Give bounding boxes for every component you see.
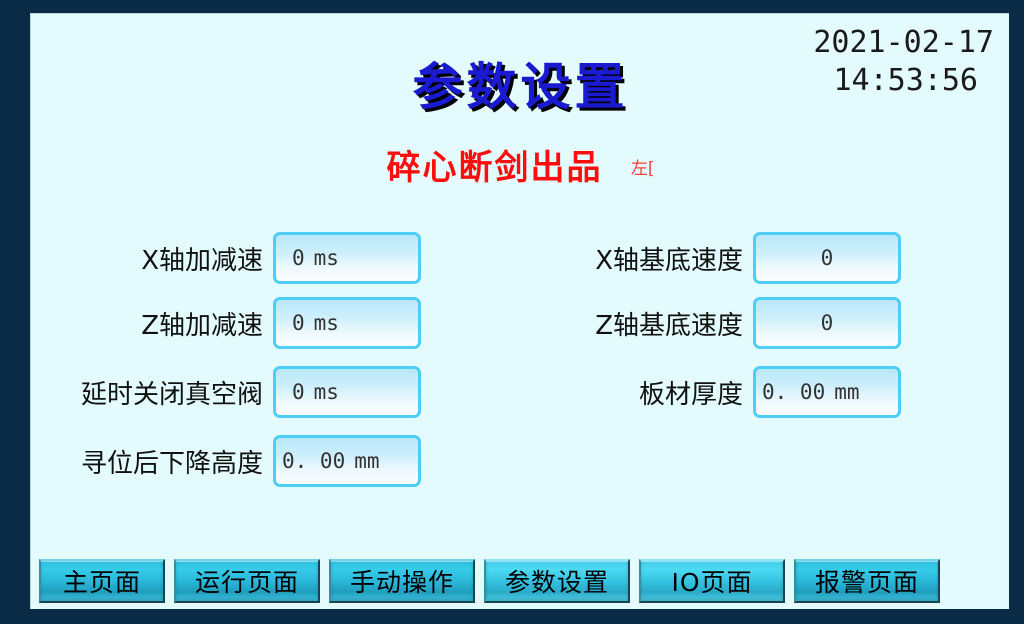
parameter-value: 0	[292, 246, 305, 270]
nav-button-6[interactable]: 报警页面	[794, 559, 940, 603]
parameter-row: X轴基底速度0	[481, 232, 901, 284]
parameter-row: 板材厚度0. 00mm	[481, 366, 901, 418]
subtitle-fragment-text: 左[	[631, 154, 655, 179]
hmi-screen: 2021-02-17 14:53:56 参数设置 碎心断剑出品 左[ X轴加减速…	[0, 0, 1024, 624]
parameter-unit: mm	[834, 380, 859, 404]
parameter-value: 0	[292, 380, 305, 404]
subtitle-row: 碎心断剑出品 左[	[31, 140, 1010, 189]
nav-button-1[interactable]: 主页面	[39, 559, 165, 603]
parameter-value: 0	[821, 246, 834, 270]
parameter-row: Z轴基底速度0	[481, 297, 901, 349]
parameter-area: X轴加减速0msZ轴加减速0ms延时关闭真空阀0ms寻位后下降高度0. 00mm…	[31, 214, 1010, 514]
parameter-value-field[interactable]: 0. 00mm	[753, 366, 901, 418]
navigation-bar: 主页面运行页面手动操作参数设置IO页面报警页面	[39, 559, 1002, 603]
parameter-label: 寻位后下降高度	[81, 443, 273, 480]
parameter-row: X轴加减速0ms	[31, 232, 421, 284]
parameter-unit: ms	[314, 246, 339, 270]
parameter-label: 板材厚度	[639, 374, 753, 411]
parameter-value-field[interactable]: 0ms	[273, 366, 421, 418]
parameter-value-field[interactable]: 0ms	[273, 232, 421, 284]
parameter-value-field[interactable]: 0	[753, 232, 901, 284]
nav-button-4[interactable]: 参数设置	[484, 559, 630, 603]
nav-button-2[interactable]: 运行页面	[174, 559, 320, 603]
parameter-value-field[interactable]: 0	[753, 297, 901, 349]
nav-button-3[interactable]: 手动操作	[329, 559, 475, 603]
nav-button-5[interactable]: IO页面	[639, 559, 785, 603]
parameter-value: 0. 00	[762, 380, 825, 404]
parameter-label: X轴加减速	[141, 240, 273, 277]
parameter-value: 0	[292, 311, 305, 335]
parameter-unit: ms	[314, 311, 339, 335]
parameter-row: Z轴加减速0ms	[31, 297, 421, 349]
parameter-row: 寻位后下降高度0. 00mm	[31, 435, 421, 487]
parameter-label: Z轴加减速	[141, 305, 273, 342]
parameter-label: Z轴基底速度	[595, 305, 753, 342]
parameter-value-field[interactable]: 0. 00mm	[273, 435, 421, 487]
parameter-value-field[interactable]: 0ms	[273, 297, 421, 349]
page-title: 参数设置	[31, 47, 1010, 119]
parameter-label: 延时关闭真空阀	[81, 374, 273, 411]
parameter-unit: mm	[354, 449, 379, 473]
parameter-value: 0. 00	[282, 449, 345, 473]
parameter-label: X轴基底速度	[595, 240, 753, 277]
parameter-unit: ms	[314, 380, 339, 404]
parameter-row: 延时关闭真空阀0ms	[31, 366, 421, 418]
content-panel: 2021-02-17 14:53:56 参数设置 碎心断剑出品 左[ X轴加减速…	[30, 13, 1009, 609]
subtitle-text: 碎心断剑出品	[386, 148, 602, 188]
parameter-value: 0	[821, 311, 834, 335]
